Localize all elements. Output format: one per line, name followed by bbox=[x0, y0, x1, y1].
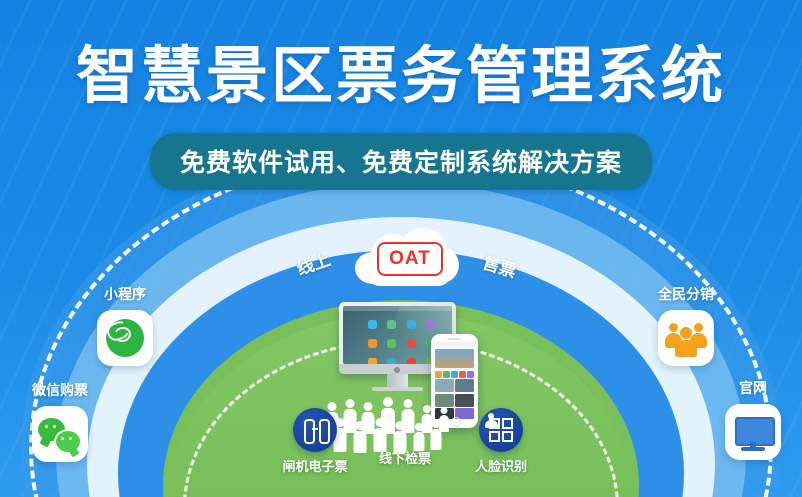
channel-label: 小程序 bbox=[97, 284, 153, 304]
group-people-icon[interactable] bbox=[658, 310, 714, 366]
cloud-icon: OAT bbox=[355, 228, 460, 290]
ground-gate-eticket[interactable]: 闸机电子票 bbox=[280, 408, 350, 475]
page-title: 智慧景区票务管理系统 bbox=[0, 46, 802, 108]
channel-official-site[interactable]: 官网 bbox=[725, 378, 781, 460]
ground-label: 人脸识别 bbox=[466, 456, 536, 475]
channel-label: 官网 bbox=[725, 378, 781, 398]
ground-label: 闸机电子票 bbox=[280, 456, 350, 475]
channel-wechat-ticket[interactable]: 微信购票 bbox=[32, 380, 88, 462]
ground-offline-check: 线下检票 bbox=[360, 448, 450, 467]
channel-label: 全民分销 bbox=[658, 284, 714, 304]
wechat-icon[interactable] bbox=[32, 406, 88, 462]
subtitle-pill: 免费软件试用、免费定制系统解决方案 bbox=[150, 133, 652, 190]
channel-mini-program[interactable]: 小程序 bbox=[97, 284, 153, 366]
mini-program-icon[interactable] bbox=[97, 310, 153, 366]
promo-banner: 智慧景区票务管理系统 免费软件试用、免费定制系统解决方案 线上 售票 OAT bbox=[0, 0, 802, 497]
oat-brand-badge: OAT bbox=[377, 242, 443, 276]
monitor-icon[interactable] bbox=[725, 404, 781, 460]
crowd-icon bbox=[330, 396, 480, 454]
face-recognition-icon[interactable] bbox=[479, 408, 523, 452]
ground-face-recognition[interactable]: 人脸识别 bbox=[466, 408, 536, 475]
turnstile-gate-icon[interactable] bbox=[293, 408, 337, 452]
ground-label: 线下检票 bbox=[360, 448, 450, 467]
subtitle-wrap: 免费软件试用、免费定制系统解决方案 bbox=[0, 133, 802, 190]
channel-label: 微信购票 bbox=[32, 380, 88, 400]
channel-distribution[interactable]: 全民分销 bbox=[658, 284, 714, 366]
